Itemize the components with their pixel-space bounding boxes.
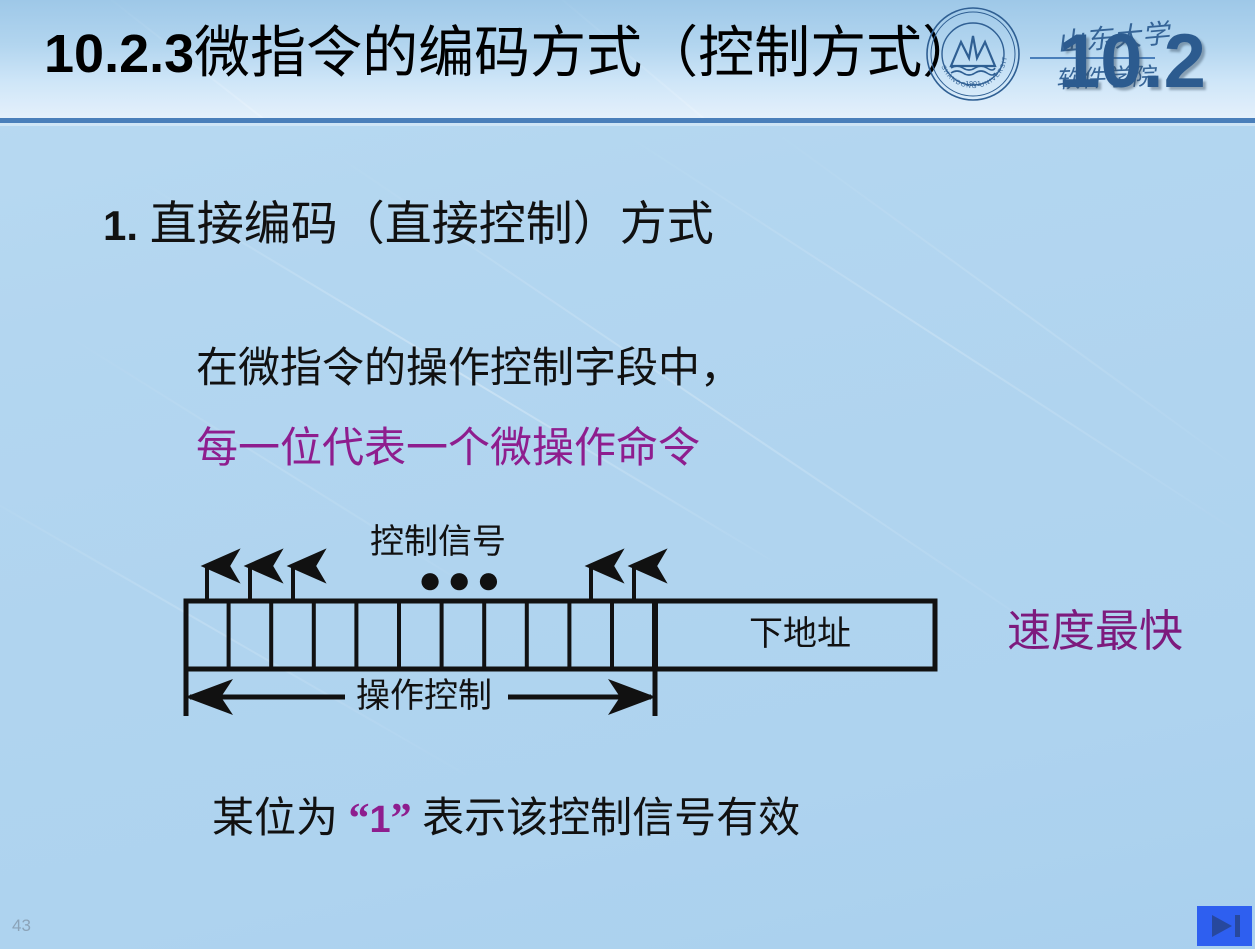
section-heading-index: 1. [103, 202, 138, 249]
footnote-quote-close: ” [391, 796, 412, 842]
header-divider-highlight [0, 123, 1255, 126]
background-streak [0, 470, 477, 782]
footnote-prefix: 某位为 [212, 796, 338, 842]
background-streak [619, 130, 1255, 546]
fastest-note: 速度最快 [1007, 606, 1183, 658]
slide-canvas: 10.2.3微指令的编码方式（控制方式） 1901 SHANDONG UNIVE… [0, 0, 1255, 949]
next-slide-button[interactable] [1197, 906, 1252, 946]
section-number-badge: 10.2 [1058, 22, 1206, 102]
operation-control-label: 操作控制 [356, 677, 492, 717]
footnote-value: 1 [370, 799, 391, 841]
section-heading-text: 直接编码（直接控制）方式 [150, 199, 714, 251]
page-title-text: 微指令的编码方式（控制方式） [194, 23, 978, 85]
page-title-number: 10.2.3 [44, 24, 194, 84]
footnote-suffix: 表示该控制信号有效 [422, 796, 800, 842]
section-heading: 1. 直接编码（直接控制）方式 [103, 196, 714, 255]
university-seal-icon: 1901 SHANDONG UNIVERSITY [925, 6, 1021, 102]
page-number: 43 [12, 916, 31, 936]
next-address-label: 下地址 [749, 615, 851, 655]
footnote-quote-open: “ [349, 796, 370, 842]
body-line-black: 在微指令的操作控制字段中， [196, 343, 742, 395]
ellipsis-dots: ●●● [418, 566, 505, 594]
body-line-highlight: 每一位代表一个微操作命令 [196, 423, 700, 475]
background-streak [759, 120, 1255, 486]
footnote-line: 某位为 “1” 表示该控制信号有效 [212, 793, 800, 846]
play-next-icon [1208, 913, 1242, 939]
page-title: 10.2.3微指令的编码方式（控制方式） [44, 16, 978, 92]
